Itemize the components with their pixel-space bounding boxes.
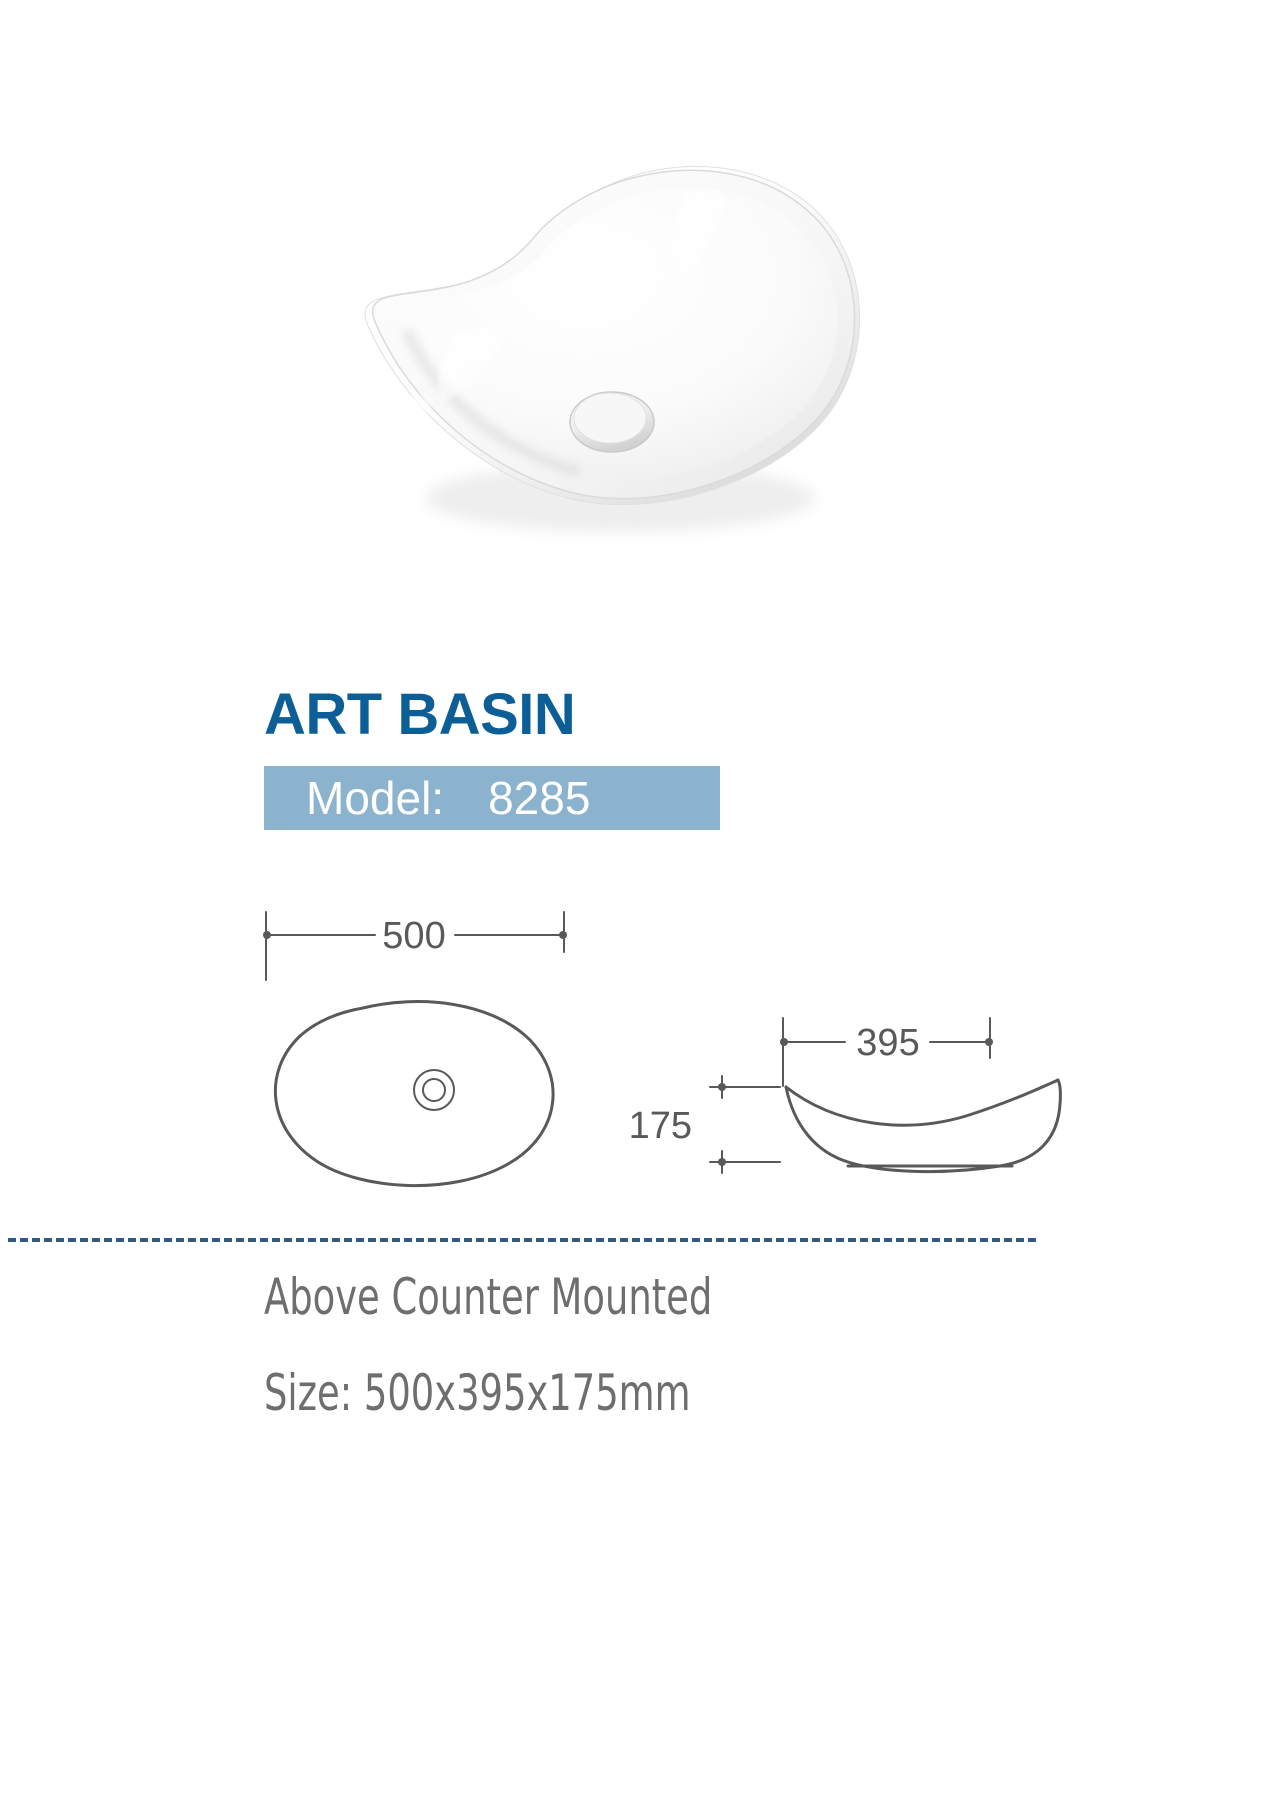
side-view-width-label: 395 [856, 1022, 919, 1064]
highlight-lower [400, 397, 433, 442]
model-label: Model: [306, 775, 444, 821]
top-view-tick-left [263, 931, 271, 939]
side-view-tick-right [985, 1038, 993, 1046]
page-title: ART BASIN [264, 686, 575, 744]
model-value: 8285 [488, 775, 590, 821]
dashed-divider [8, 1238, 1036, 1242]
footer-text: Above Counter Mounted Size: 500x395x175m… [264, 1272, 1064, 1418]
top-view-tick-right [559, 931, 567, 939]
mounting-type: Above Counter Mounted [264, 1272, 920, 1322]
top-view-width-label: 500 [382, 915, 445, 957]
drain-cap-top [574, 393, 646, 443]
side-view-tick-left [780, 1038, 788, 1046]
drain-outer-circle [414, 1070, 454, 1110]
side-view-rim-line [786, 1080, 1058, 1125]
side-view-height-label: 175 [629, 1105, 692, 1147]
model-bar: Model: 8285 [264, 766, 720, 830]
product-photo [330, 130, 890, 550]
height-dim-top-dot [718, 1083, 726, 1091]
technical-drawings: 500 395 175 [0, 890, 1263, 1220]
drain-inner-circle [423, 1079, 445, 1101]
size-spec: Size: 500x395x175mm [264, 1368, 920, 1418]
height-dim-bottom-dot [718, 1158, 726, 1166]
